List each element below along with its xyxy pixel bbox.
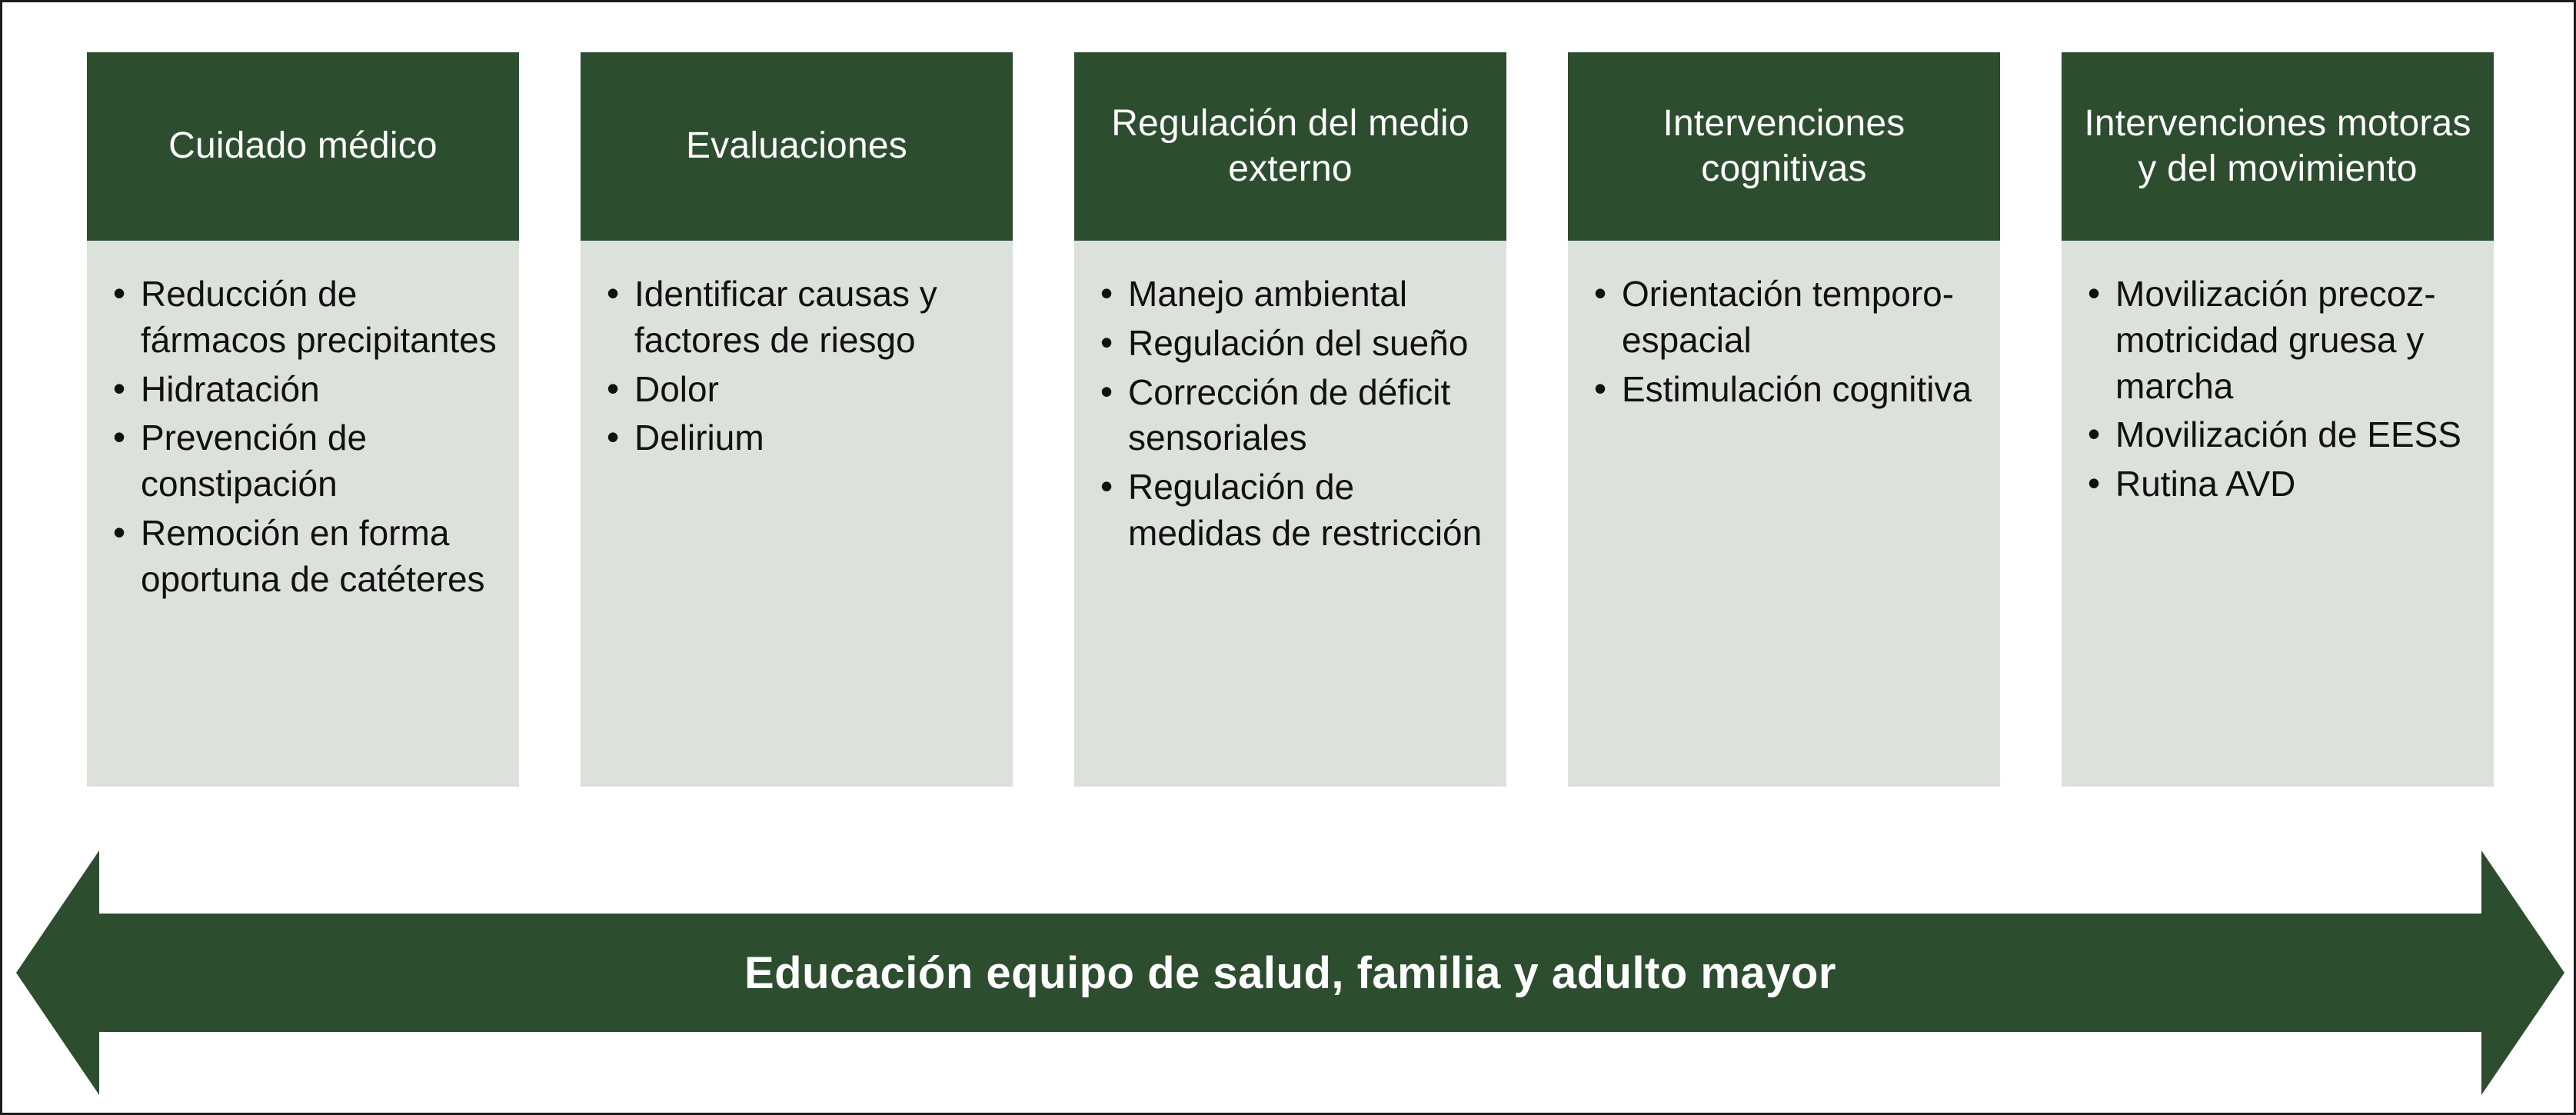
list-item: Corrección de déficit sensoriales: [1094, 370, 1486, 462]
double-headed-arrow-icon: [16, 850, 2564, 1095]
column-body-4: Orientación temporo-espacial Estimulació…: [1568, 241, 2000, 787]
column-header-2: Evaluaciones: [581, 52, 1013, 241]
list-item: Identificar causas y factores de riesgo: [601, 271, 993, 364]
list-item: Regulación del sueño: [1094, 321, 1486, 367]
column-header-3: Regulación del medio externo: [1074, 52, 1506, 241]
list-item: Remoción en forma oportuna de catéteres: [107, 511, 499, 603]
list-item: Reducción de fármacos precipitantes: [107, 271, 499, 364]
list-item: Movilización de EESS: [2082, 412, 2474, 458]
column-header-5: Intervenciones motoras y del movimiento: [2062, 52, 2494, 241]
bullet-list-1: Reducción de fármacos precipitantes Hidr…: [107, 271, 499, 603]
column-body-1: Reducción de fármacos precipitantes Hidr…: [87, 241, 519, 787]
bullet-list-3: Manejo ambiental Regulación del sueño Co…: [1094, 271, 1486, 557]
column-body-2: Identificar causas y factores de riesgo …: [581, 241, 1013, 787]
column-regulacion-medio-externo: Regulación del medio externo Manejo ambi…: [1074, 52, 1506, 787]
list-item: Manejo ambiental: [1094, 271, 1486, 318]
diagram-canvas: Cuidado médico Reducción de fármacos pre…: [0, 0, 2576, 1115]
bullet-list-4: Orientación temporo-espacial Estimulació…: [1588, 271, 1980, 412]
list-item: Hidratación: [107, 367, 499, 413]
list-item: Prevención de constipación: [107, 415, 499, 508]
column-body-5: Movilización precoz-motricidad gruesa y …: [2062, 241, 2494, 787]
bullet-list-2: Identificar causas y factores de riesgo …: [601, 271, 993, 461]
column-header-4: Intervenciones cognitivas: [1568, 52, 2000, 241]
column-evaluaciones: Evaluaciones Identificar causas y factor…: [581, 52, 1013, 787]
column-body-3: Manejo ambiental Regulación del sueño Co…: [1074, 241, 1506, 787]
list-item: Orientación temporo-espacial: [1588, 271, 1980, 364]
column-intervenciones-motoras: Intervenciones motoras y del movimiento …: [2062, 52, 2494, 787]
list-item: Regulación de medidas de restricción: [1094, 464, 1486, 557]
bullet-list-5: Movilización precoz-motricidad gruesa y …: [2082, 271, 2474, 508]
column-intervenciones-cognitivas: Intervenciones cognitivas Orientación te…: [1568, 52, 2000, 787]
list-item: Dolor: [601, 367, 993, 413]
list-item: Delirium: [601, 415, 993, 461]
list-item: Movilización precoz-motricidad gruesa y …: [2082, 271, 2474, 409]
list-item: Rutina AVD: [2082, 461, 2474, 508]
column-header-1: Cuidado médico: [87, 52, 519, 241]
column-cuidado-medico: Cuidado médico Reducción de fármacos pre…: [87, 52, 519, 787]
education-banner: Educación equipo de salud, familia y adu…: [16, 850, 2564, 1095]
columns-row: Cuidado médico Reducción de fármacos pre…: [87, 52, 2494, 787]
list-item: Estimulación cognitiva: [1588, 367, 1980, 413]
